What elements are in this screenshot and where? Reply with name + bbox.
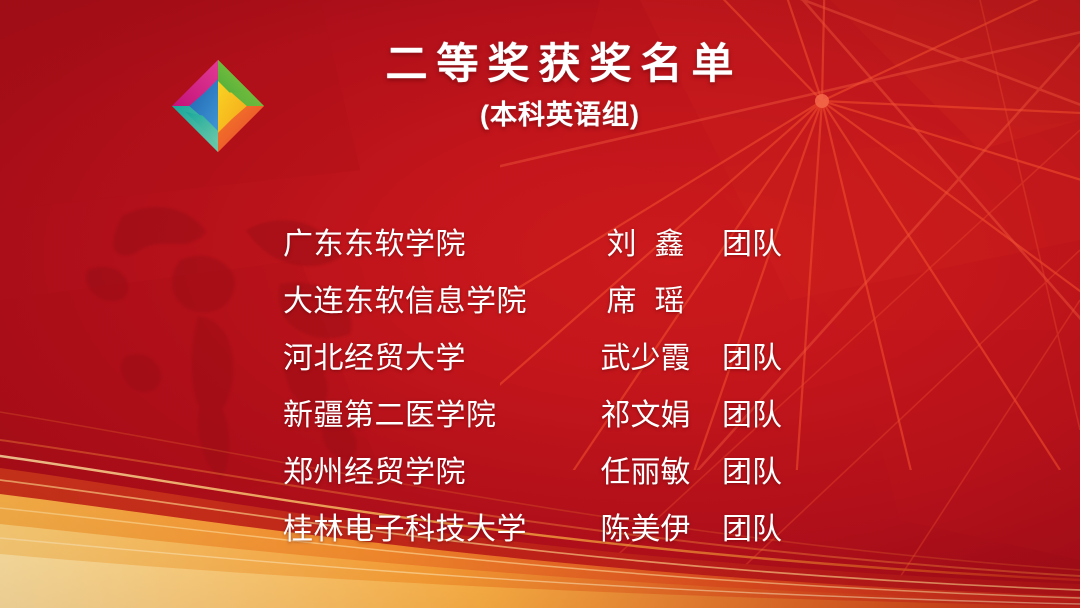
winner-row: 新疆第二医学院祁文娟团队 <box>283 390 843 447</box>
winner-row: 桂林电子科技大学陈美伊团队 <box>283 504 843 561</box>
winner-row: 河北经贸大学武少霞团队 <box>283 333 843 390</box>
winner-row: 广东东软学院刘鑫团队 <box>283 219 843 276</box>
winner-name: 祁文娟 <box>583 390 708 434</box>
page-title: 二等奖获奖名单 <box>300 40 820 88</box>
winner-team-badge: 团队 <box>708 390 782 434</box>
winner-team-badge: 团队 <box>708 447 782 491</box>
winner-school: 大连东软信息学院 <box>283 276 583 320</box>
slide-header: 二等奖获奖名单 (本科英语组) <box>0 40 1080 170</box>
winner-name: 刘鑫 <box>583 219 708 263</box>
winner-school: 新疆第二医学院 <box>283 390 583 434</box>
page-subtitle: (本科英语组) <box>300 93 820 132</box>
winner-school: 郑州经贸学院 <box>283 447 583 491</box>
winner-name: 席瑶 <box>583 276 708 320</box>
winner-school: 河北经贸大学 <box>283 333 583 377</box>
winners-list: 广东东软学院刘鑫团队大连东软信息学院席瑶河北经贸大学武少霞团队新疆第二医学院祁文… <box>283 219 843 561</box>
winner-row: 郑州经贸学院任丽敏团队 <box>283 447 843 504</box>
title-block: 二等奖获奖名单 (本科英语组) <box>300 40 820 132</box>
winner-school: 桂林电子科技大学 <box>283 504 583 548</box>
winner-team-badge: 团队 <box>708 504 782 548</box>
rainbow-diamond-logo <box>170 58 266 154</box>
award-slide: 二等奖获奖名单 (本科英语组) 广东东软学院刘鑫团队大连东软信息学院席瑶河北经贸… <box>0 0 1080 608</box>
winner-team-badge: 团队 <box>708 333 782 377</box>
winner-name: 武少霞 <box>583 333 708 377</box>
winner-team-badge: 团队 <box>708 219 782 263</box>
winner-name: 陈美伊 <box>583 504 708 548</box>
winner-school: 广东东软学院 <box>283 219 583 263</box>
winner-name: 任丽敏 <box>583 447 708 491</box>
winner-row: 大连东软信息学院席瑶 <box>283 276 843 333</box>
